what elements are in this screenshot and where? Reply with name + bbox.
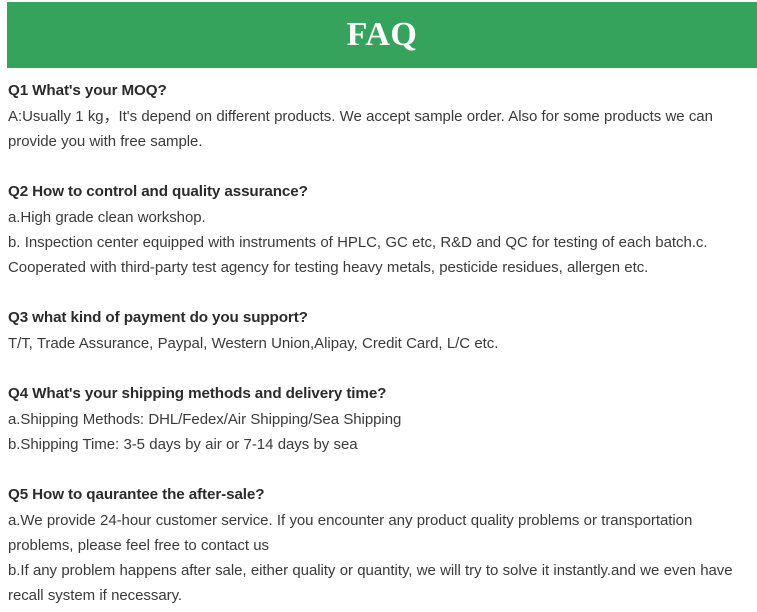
faq-answer-q3: T/T, Trade Assurance, Paypal, Western Un… [8, 331, 750, 356]
faq-answer-q5: a.We provide 24-hour customer service. I… [8, 508, 750, 608]
faq-question-q3: Q3 what kind of payment do you support? [8, 307, 750, 328]
faq-banner-title: FAQ [347, 18, 418, 52]
faq-answer-q1: A:Usually 1 kg，It's depend on different … [8, 104, 750, 154]
faq-item: Q2 How to control and quality assurance?… [8, 181, 750, 280]
faq-question-q4: Q4 What's your shipping methods and deli… [8, 383, 750, 404]
faq-list: Q1 What's your MOQ? A:Usually 1 kg，It's … [8, 80, 750, 608]
faq-page: FAQ Q1 What's your MOQ? A:Usually 1 kg，I… [0, 0, 757, 612]
faq-question-q5: Q5 How to qaurantee the after-sale? [8, 484, 750, 505]
faq-answer-q2: a.High grade clean workshop. b. Inspecti… [8, 205, 750, 280]
faq-item: Q1 What's your MOQ? A:Usually 1 kg，It's … [8, 80, 750, 154]
faq-banner: FAQ [7, 2, 757, 68]
faq-answer-q4: a.Shipping Methods: DHL/Fedex/Air Shippi… [8, 407, 750, 457]
faq-question-q1: Q1 What's your MOQ? [8, 80, 750, 101]
faq-item: Q3 what kind of payment do you support? … [8, 307, 750, 356]
faq-item: Q5 How to qaurantee the after-sale? a.We… [8, 484, 750, 608]
faq-question-q2: Q2 How to control and quality assurance? [8, 181, 750, 202]
faq-item: Q4 What's your shipping methods and deli… [8, 383, 750, 457]
